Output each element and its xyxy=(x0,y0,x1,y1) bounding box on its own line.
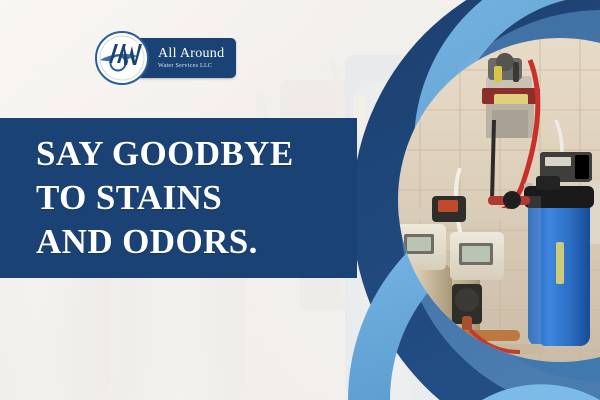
aaw-monogram-graphic xyxy=(94,30,150,86)
headline-line-1: SAY GOODBYE xyxy=(36,132,357,176)
aaw-monogram-icon xyxy=(94,30,150,86)
headline-line-2: TO STAINS xyxy=(36,176,357,220)
brand-logo[interactable]: All Around Water Services LLC xyxy=(94,30,244,86)
logo-company-subtitle: Water Services LLC xyxy=(158,62,224,70)
logo-company-name: All Around xyxy=(158,46,224,61)
marketing-banner-canvas: SAY GOODBYE TO STAINS AND ODORS. All Aro… xyxy=(0,0,600,400)
logo-name-plate: All Around Water Services LLC xyxy=(136,38,236,78)
headline-line-3: AND ODORS. xyxy=(36,220,357,264)
headline-banner: SAY GOODBYE TO STAINS AND ODORS. xyxy=(0,118,357,278)
